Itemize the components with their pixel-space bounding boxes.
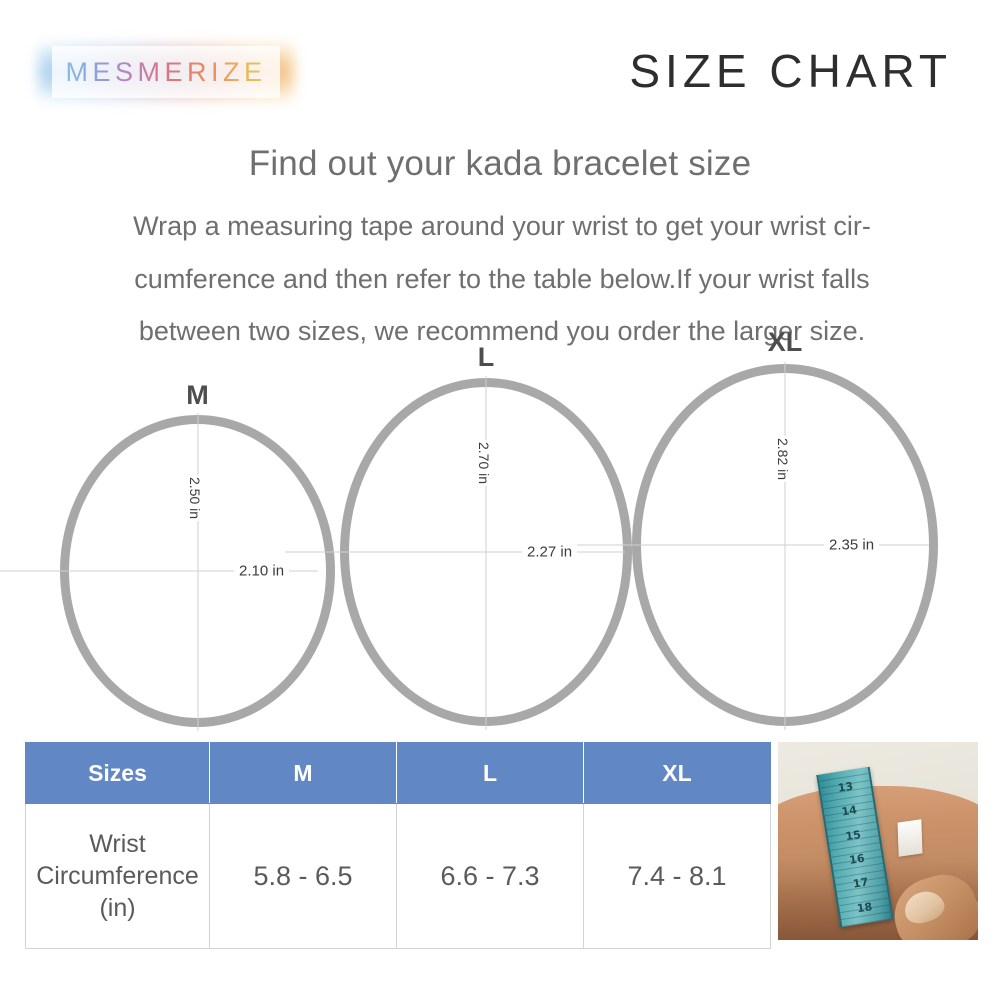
row-label-line-3: (in): [27, 892, 208, 924]
table-header-xl: XL: [584, 743, 771, 804]
oval-label-m: M: [186, 382, 209, 409]
intro-line-1: Wrap a measuring tape around your wrist …: [52, 200, 952, 253]
oval-height-label-xl: 2.82 in: [775, 436, 791, 482]
oval-unit-l: L 2.70 in 2.27 in: [340, 378, 632, 726]
tape-mark-16: 16: [848, 852, 865, 865]
cell-wrist-l: 6.6 - 7.3: [397, 804, 584, 949]
tape-mark-15: 15: [845, 828, 862, 841]
oval-height-label-l: 2.70 in: [476, 440, 492, 486]
photo-tape-clip: [898, 819, 923, 856]
oval-axis-vertical-m: [197, 413, 198, 731]
tape-mark-14: 14: [841, 804, 858, 817]
cell-wrist-xl: 7.4 - 8.1: [584, 804, 771, 949]
cell-wrist-m: 5.8 - 6.5: [210, 804, 397, 949]
oval-width-label-xl: 2.35 in: [824, 537, 879, 554]
oval-diagram-group: M 2.50 in 2.10 in L 2.70 in 2.27 in XL 2…: [0, 350, 1000, 740]
row-label-line-2: Circumference: [27, 860, 208, 892]
oval-width-label-m: 2.10 in: [234, 563, 289, 580]
intro-line-2: cumference and then refer to the table b…: [52, 253, 952, 306]
oval-height-label-m: 2.50 in: [187, 475, 203, 521]
oval-width-label-l: 2.27 in: [522, 544, 577, 561]
size-table: Sizes M L XL Wrist Circumference (in) 5.…: [25, 742, 771, 949]
oval-unit-m: M 2.50 in 2.10 in: [60, 415, 335, 727]
oval-unit-xl: XL 2.82 in 2.35 in: [632, 364, 938, 726]
table-header-m: M: [210, 743, 397, 804]
row-label-line-1: Wrist: [27, 828, 208, 860]
page-title: SIZE CHART: [629, 44, 952, 98]
wrist-measurement-photo: 13 14 15 16 17 18: [778, 742, 978, 940]
tape-mark-17: 17: [852, 876, 869, 889]
size-table-head: Sizes M L XL: [26, 743, 771, 804]
headline: Find out your kada bracelet size: [0, 144, 1000, 184]
table-row: Wrist Circumference (in) 5.8 - 6.5 6.6 -…: [26, 804, 771, 949]
row-label-wrist-circumference: Wrist Circumference (in): [26, 804, 210, 949]
oval-label-l: L: [478, 344, 495, 371]
oval-label-xl: XL: [768, 329, 803, 356]
logo-text: MESMERIZE: [52, 46, 280, 98]
tape-mark-18: 18: [856, 901, 873, 914]
table-header-l: L: [397, 743, 584, 804]
oval-axis-vertical-l: [486, 376, 487, 730]
tape-mark-13: 13: [837, 780, 854, 793]
intro-paragraph: Wrap a measuring tape around your wrist …: [52, 200, 952, 358]
table-header-sizes: Sizes: [26, 743, 210, 804]
size-table-body: Wrist Circumference (in) 5.8 - 6.5 6.6 -…: [26, 804, 771, 949]
brand-logo: MESMERIZE: [52, 46, 280, 98]
oval-axis-vertical-xl: [785, 362, 786, 730]
table-header-row: Sizes M L XL: [26, 743, 771, 804]
